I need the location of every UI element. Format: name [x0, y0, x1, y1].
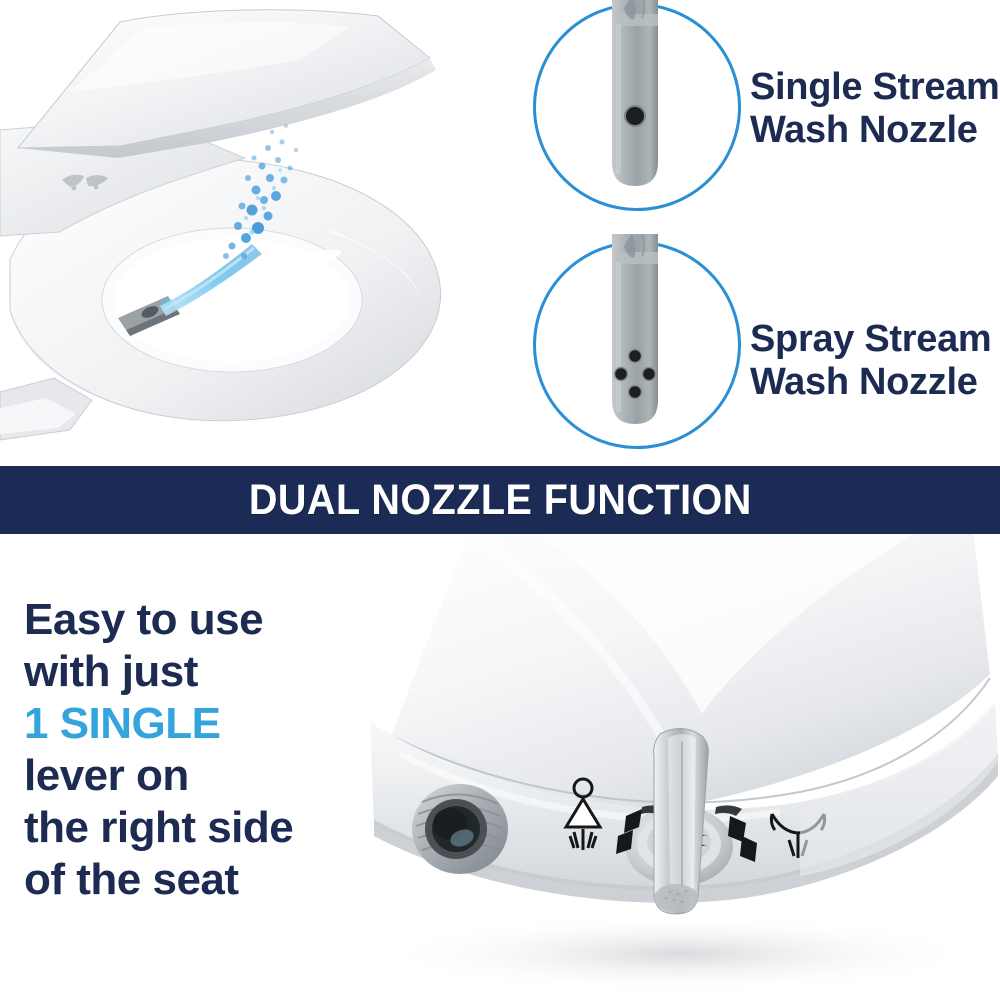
headline-line-3-accent: 1 SINGLE	[24, 698, 364, 750]
product-infographic: Single Stream Wash Nozzle	[0, 0, 1000, 1000]
bottom-section: Easy to use with just 1 SINGLE lever on …	[0, 534, 1000, 1000]
headline-line-6: of the seat	[24, 854, 364, 906]
single-stream-nozzle-icon	[596, 0, 676, 196]
headline: Easy to use with just 1 SINGLE lever on …	[24, 594, 364, 905]
top-section: Single Stream Wash Nozzle	[0, 0, 1000, 466]
headline-line-1: Easy to use	[24, 594, 364, 646]
headline-line-2: with just	[24, 646, 364, 698]
section-banner: DUAL NOZZLE FUNCTION	[0, 466, 1000, 534]
callout-label-line-2: Wash Nozzle	[750, 109, 1000, 152]
headline-line-5: the right side	[24, 802, 364, 854]
spray-stream-nozzle-icon	[596, 234, 676, 434]
callout-label-line-1: Spray Stream	[750, 318, 991, 361]
callout-label-single-stream: Single Stream Wash Nozzle	[750, 66, 1000, 151]
callout-label-line-2: Wash Nozzle	[750, 361, 991, 404]
callout-label-line-1: Single Stream	[750, 66, 1000, 109]
callout-label-spray-stream: Spray Stream Wash Nozzle	[750, 318, 991, 403]
headline-line-4: lever on	[24, 750, 364, 802]
bidet-toilet-seat-open-with-spray	[0, 0, 530, 466]
water-inlet-fitting	[412, 784, 508, 874]
bidet-seat-side-view-with-lever	[330, 534, 1000, 1000]
banner-title: DUAL NOZZLE FUNCTION	[249, 476, 752, 525]
